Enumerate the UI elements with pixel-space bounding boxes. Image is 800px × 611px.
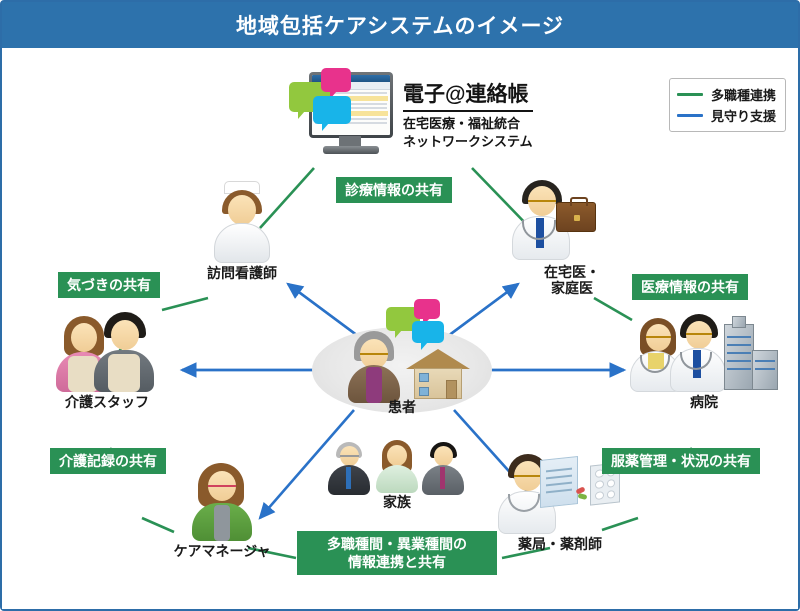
node-visiting-nurse-label: 訪問看護師 — [187, 265, 297, 281]
hospital-doctors-icon — [626, 310, 782, 392]
node-family[interactable]: 家族 — [322, 438, 472, 510]
system-title: 電子@連絡帳 — [403, 78, 533, 112]
node-home-doctor-label-line2: 家庭医 — [502, 280, 642, 296]
legend-label-blue: 見守り支援 — [711, 106, 776, 125]
node-care-manager[interactable]: ケアマネージャ — [152, 463, 292, 559]
label-care-record-share: 介護記録の共有 — [50, 448, 166, 474]
node-home-doctor-label-line1: 在宅医・ — [502, 264, 642, 280]
legend-item-multi-profession: 多職種連携 — [677, 84, 776, 105]
label-awareness-share: 気づきの共有 — [58, 272, 160, 298]
patient-speech-bubble-cyan-icon — [412, 321, 444, 343]
node-home-doctor[interactable]: 在宅医・ 家庭医 — [502, 176, 642, 296]
system-subtitle-line1: 在宅医療・福祉統合 — [403, 115, 533, 133]
briefcase-icon — [556, 202, 596, 232]
legend-label-green: 多職種連携 — [711, 85, 776, 104]
capsules-icon — [576, 488, 590, 500]
center-patient-node[interactable]: 患者 — [312, 313, 492, 423]
system-subtitle-line2: ネットワークシステム — [403, 133, 533, 151]
node-care-manager-label: ケアマネージャ — [152, 543, 292, 559]
nurse-icon — [204, 181, 280, 263]
prescription-sheet-icon — [540, 456, 578, 508]
node-visiting-nurse[interactable]: 訪問看護師 — [187, 181, 297, 281]
family-icon — [324, 438, 470, 492]
label-medical-info-share: 診療情報の共有 — [336, 177, 452, 203]
speech-bubble-pink-icon — [321, 68, 351, 92]
node-care-staff-label: 介護スタッフ — [44, 394, 170, 410]
care-staff-icon — [52, 310, 162, 392]
legend-swatch-blue — [677, 114, 703, 117]
house-icon — [408, 349, 468, 399]
legend-item-watch-support: 見守り支援 — [677, 105, 776, 126]
label-medication-share: 服薬管理・状況の共有 — [602, 448, 760, 474]
node-hospital[interactable]: 病院 — [624, 310, 784, 410]
label-healthcare-info-share: 医療情報の共有 — [632, 274, 748, 300]
hospital-building-icon — [722, 316, 780, 392]
legend: 多職種連携 見守り支援 — [669, 78, 786, 132]
legend-swatch-green — [677, 93, 703, 96]
node-home-doctor-label: 在宅医・ 家庭医 — [502, 264, 642, 296]
patient-speech-bubble-pink-icon — [414, 299, 440, 319]
doctor-briefcase-icon — [502, 176, 642, 262]
system-logo: 電子@連絡帳 在宅医療・福祉統合 ネットワークシステム — [287, 66, 533, 162]
diagram-canvas: 電子@連絡帳 在宅医療・福祉統合 ネットワークシステム 多職種連携 見守り支援 … — [2, 48, 798, 609]
page-title: 地域包括ケアシステムのイメージ — [2, 2, 798, 48]
speech-bubble-cyan-icon — [313, 96, 351, 124]
label-multi-profession-line2: 情報連携と共有 — [306, 553, 488, 571]
care-manager-icon — [188, 463, 256, 541]
label-multi-profession-line1: 多職種間・異業種間の — [306, 535, 488, 553]
node-hospital-label: 病院 — [624, 394, 784, 410]
node-care-staff[interactable]: 介護スタッフ — [44, 310, 170, 410]
node-family-label: 家族 — [322, 494, 472, 510]
diagram-root: 地域包括ケアシステムのイメージ — [0, 0, 800, 611]
label-multi-profession-share: 多職種間・異業種間の 情報連携と共有 — [297, 531, 497, 575]
center-patient-label: 患者 — [312, 397, 492, 417]
elderly-patient-icon — [342, 331, 406, 403]
monitor-icon — [287, 66, 395, 162]
